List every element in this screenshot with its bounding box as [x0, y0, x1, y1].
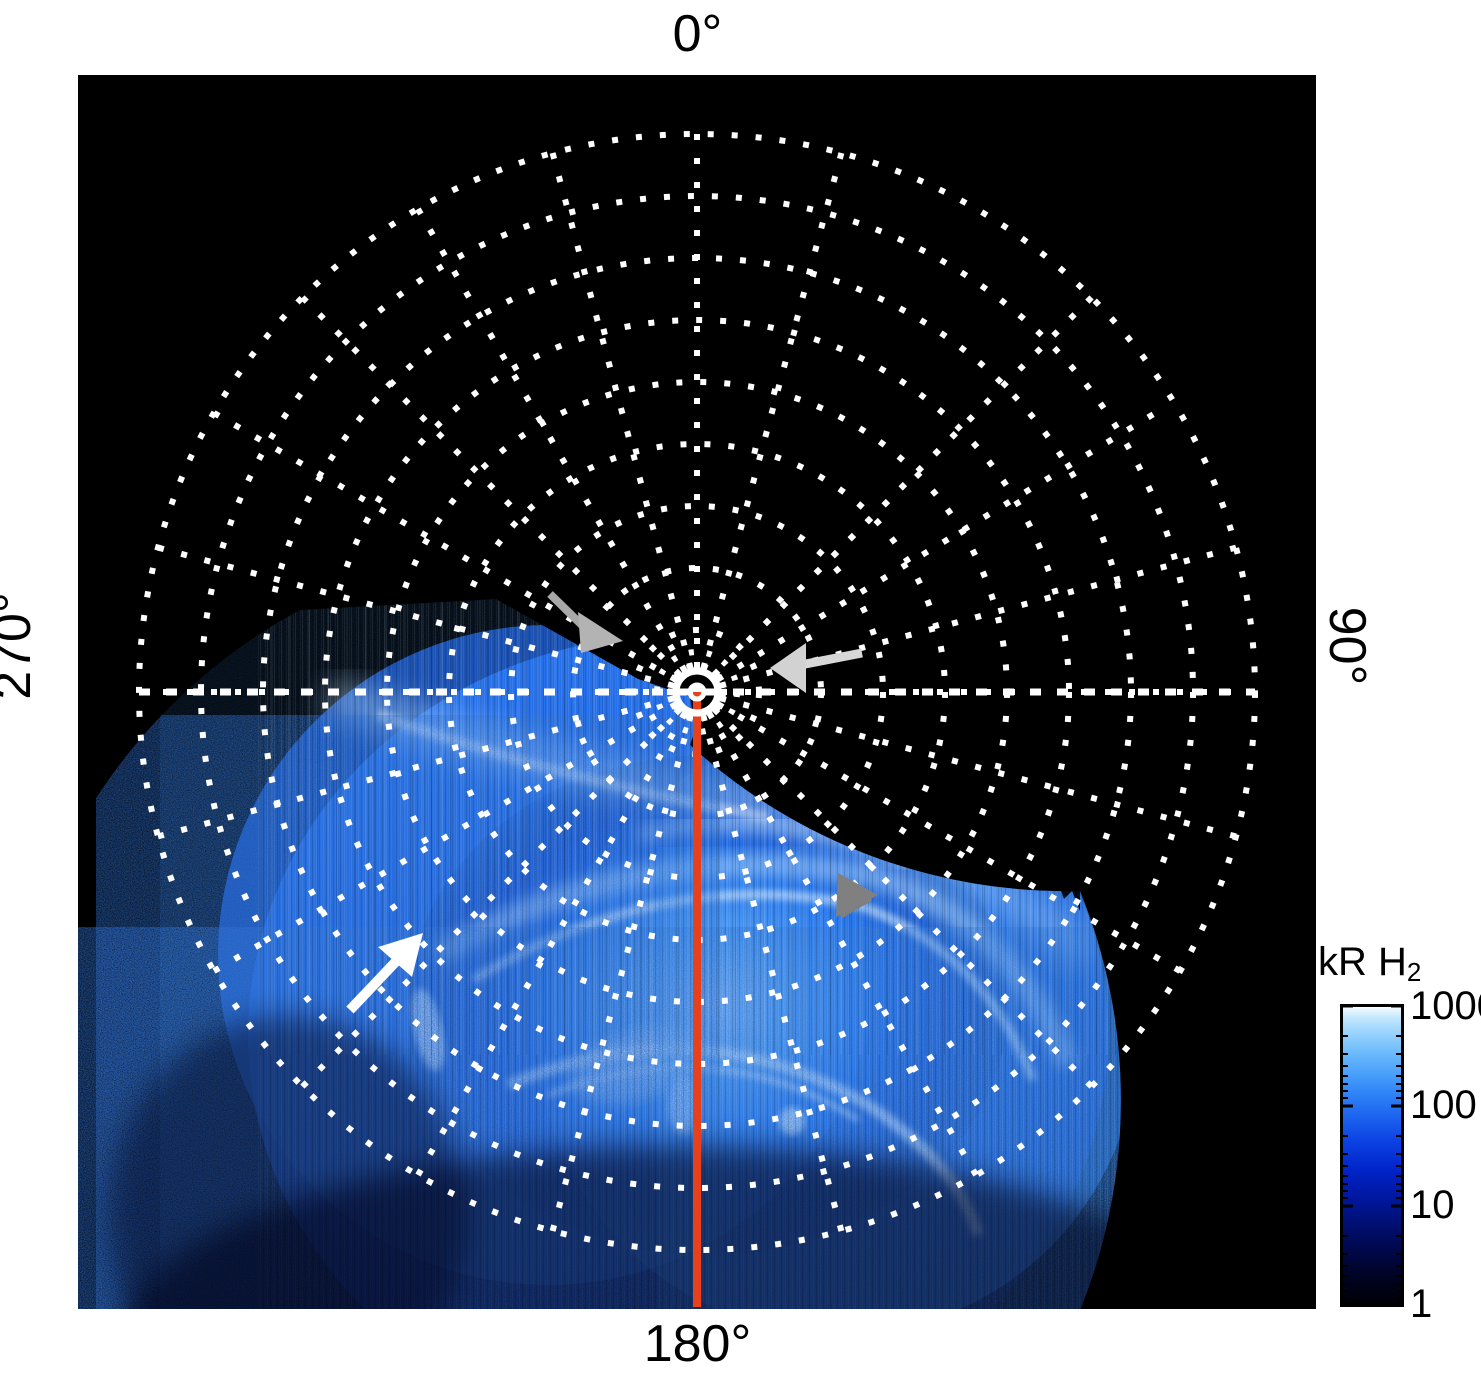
colorbar-tick-10: 10 — [1410, 1185, 1455, 1225]
colorbar-tick-1000: 1000 — [1410, 986, 1481, 1026]
colorbar-title: kR H2 — [1318, 940, 1421, 985]
colorbar-tick-marks — [1340, 1004, 1404, 1307]
axis-label-left: 270° — [0, 571, 39, 721]
colorbar-tick-labels: 1000 100 10 1 — [1410, 1004, 1481, 1307]
polar-plot-area[interactable] — [78, 75, 1316, 1309]
colorbar-title-main: kR H — [1318, 940, 1407, 984]
polar-projection-canvas — [78, 75, 1316, 1309]
axis-label-top: 0° — [0, 8, 1395, 60]
axis-label-bottom: 180° — [0, 1318, 1395, 1370]
colorbar-tick-1: 1 — [1410, 1284, 1432, 1324]
colorbar-tick-100: 100 — [1410, 1085, 1477, 1125]
axis-label-right: 90° — [1321, 571, 1373, 721]
colorbar-title-subscript: 2 — [1407, 957, 1421, 987]
